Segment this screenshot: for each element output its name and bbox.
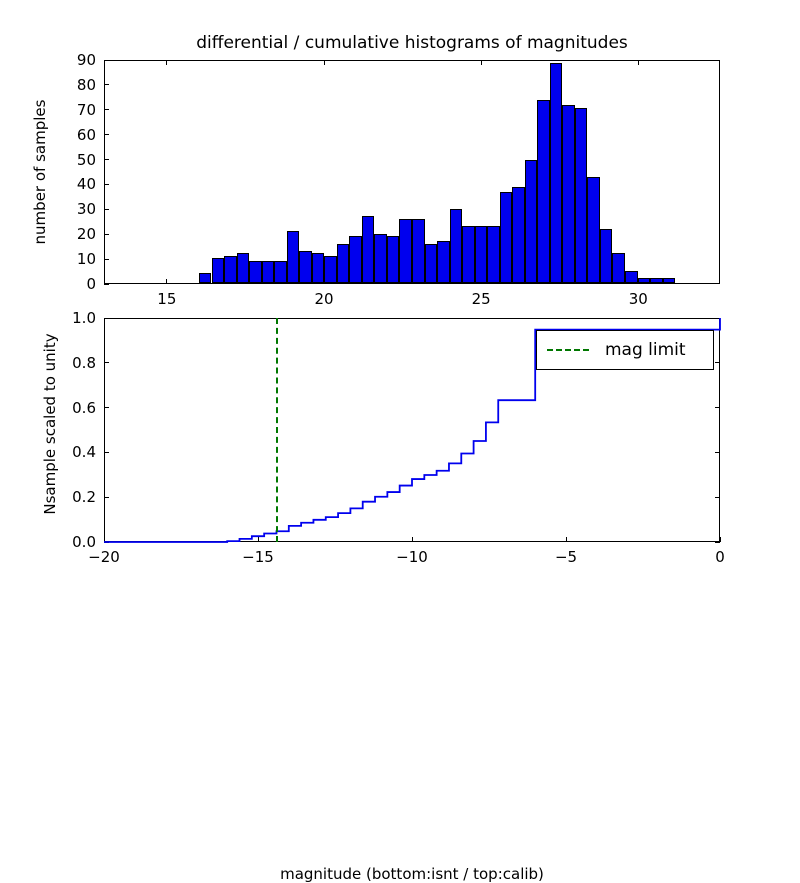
histogram-bar — [262, 261, 275, 283]
top-ytick-label: 80 — [52, 76, 96, 94]
bottom-panel: Nsample scaled to unity magnitude (botto… — [0, 300, 800, 600]
histogram-bar — [500, 192, 513, 283]
top-ytick-label: 70 — [52, 101, 96, 119]
mag-limit-line — [276, 318, 278, 542]
histogram-bar — [650, 278, 663, 283]
legend-label-mag-limit: mag limit — [605, 340, 686, 360]
top-ytick-label: 0 — [52, 275, 96, 293]
top-ytick-label: 40 — [52, 175, 96, 193]
top-ytick-label: 50 — [52, 151, 96, 169]
histogram-bar — [374, 234, 387, 283]
histogram-bar — [399, 219, 412, 283]
histogram-bar — [562, 105, 575, 283]
histogram-bar — [337, 244, 350, 283]
top-ytick-label: 20 — [52, 225, 96, 243]
histogram-bar — [299, 251, 312, 283]
histogram-bar — [212, 258, 225, 283]
histogram-bar — [475, 226, 488, 283]
top-ytick-label: 60 — [52, 126, 96, 144]
histogram-bar — [600, 229, 613, 283]
legend: mag limit — [536, 330, 714, 370]
histogram-bar — [612, 253, 625, 283]
figure: differential / cumulative histograms of … — [0, 0, 800, 600]
histogram-bar — [287, 231, 300, 283]
histogram-bar — [462, 226, 475, 283]
top-ytick-mark — [104, 284, 109, 285]
histogram-bar — [425, 244, 438, 283]
histogram-bar — [638, 278, 651, 283]
histogram-bar — [537, 100, 550, 283]
bottom-panel-xlabel: magnitude (bottom:isnt / top:calib) — [104, 865, 720, 883]
histogram-bar — [663, 278, 676, 283]
histogram-bar — [625, 271, 638, 283]
top-ytick-label: 90 — [52, 51, 96, 69]
histogram-bar — [274, 261, 287, 283]
histogram-bar — [512, 187, 525, 283]
top-ytick-label: 30 — [52, 200, 96, 218]
histogram-bar — [450, 209, 463, 283]
top-panel-ylabel: number of samples — [31, 72, 49, 272]
histogram-bar — [362, 216, 375, 283]
histogram-bar — [224, 256, 237, 283]
histogram-bar — [312, 253, 325, 283]
histogram-bar — [249, 261, 262, 283]
histogram-bar — [575, 108, 588, 283]
histogram-bar — [437, 241, 450, 283]
top-panel: differential / cumulative histograms of … — [0, 0, 800, 300]
histogram-bar — [487, 226, 500, 283]
histogram-bar — [199, 273, 212, 283]
histogram-bar — [324, 256, 337, 283]
histogram-bar — [550, 63, 563, 283]
histogram-bar — [412, 219, 425, 283]
histogram-bar — [587, 177, 600, 283]
histogram-bar — [387, 236, 400, 283]
histogram-bar — [525, 160, 538, 283]
mag-limit-legend-icon — [547, 349, 589, 351]
histogram-bar — [349, 236, 362, 283]
top-ytick-label: 10 — [52, 250, 96, 268]
histogram-bars — [105, 61, 719, 283]
chart-title: differential / cumulative histograms of … — [104, 33, 720, 53]
histogram-bar — [237, 253, 250, 283]
